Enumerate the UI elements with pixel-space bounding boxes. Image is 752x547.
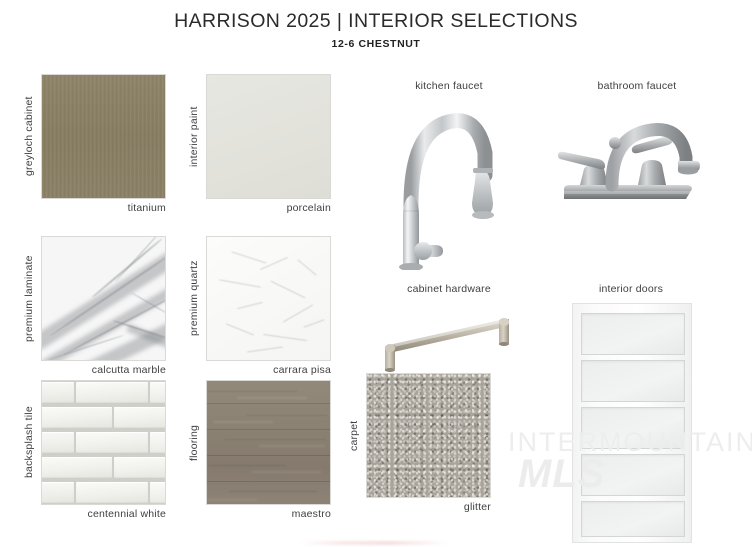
kitchen-faucet-icon <box>373 95 525 270</box>
interior-door-icon <box>572 303 692 543</box>
cabinet-bar-pull-icon <box>373 303 525 373</box>
carpet-texture <box>367 374 490 497</box>
selection-category-label: premium quartz <box>184 236 200 361</box>
selection-name-label: centennial white <box>41 508 166 520</box>
swatch-flooring <box>206 380 331 505</box>
door-panel <box>581 360 685 402</box>
selection-category-label: carpet <box>344 373 360 498</box>
cabinet-wood-texture <box>42 75 165 198</box>
marble-texture <box>42 237 165 360</box>
page-title: HARRISON 2025 | INTERIOR SELECTIONS <box>0 10 752 33</box>
product-label: cabinet hardware <box>373 283 525 295</box>
door-panel <box>581 313 685 355</box>
subway-tile-texture <box>42 381 165 504</box>
paint-texture <box>207 75 330 198</box>
swatch-greyloch-cabinet <box>41 74 166 199</box>
interior-selections-board: HARRISON 2025 | INTERIOR SELECTIONS 12-6… <box>0 0 752 547</box>
product-kitchen-faucet: kitchen faucet <box>373 80 525 270</box>
selection-category-label: premium laminate <box>19 236 35 361</box>
product-cabinet-hardware: cabinet hardware <box>373 283 525 373</box>
selection-name-label: calcutta marble <box>41 364 166 376</box>
swatch-backsplash-tile <box>41 380 166 505</box>
selection-name-label: titanium <box>41 202 166 214</box>
selection-name-label: carrara pisa <box>206 364 331 376</box>
swatch-premium-laminate <box>41 236 166 361</box>
page-subtitle: 12-6 CHESTNUT <box>0 38 752 50</box>
selection-category-label: backsplash tile <box>19 380 35 505</box>
door-panel <box>581 407 685 449</box>
product-interior-doors: interior doors <box>546 283 716 543</box>
quartz-texture <box>207 237 330 360</box>
product-label: bathroom faucet <box>546 80 728 92</box>
selection-category-label: interior paint <box>184 74 200 199</box>
product-label: kitchen faucet <box>373 80 525 92</box>
bathroom-faucet-icon <box>546 95 728 210</box>
product-bathroom-faucet: bathroom faucet <box>546 80 728 210</box>
bottom-edge-artifact <box>300 541 450 545</box>
selection-category-label: greyloch cabinet <box>19 74 35 199</box>
selection-name-label: maestro <box>206 508 331 520</box>
wood-plank-texture <box>207 381 330 504</box>
door-panel <box>581 454 685 496</box>
swatch-interior-paint <box>206 74 331 199</box>
swatch-carpet <box>366 373 491 498</box>
selection-name-label: porcelain <box>206 202 331 214</box>
selection-name-label: glitter <box>366 501 491 513</box>
selection-category-label: flooring <box>184 380 200 505</box>
product-label: interior doors <box>546 283 716 295</box>
door-panel <box>581 501 685 537</box>
swatch-premium-quartz <box>206 236 331 361</box>
board-header: HARRISON 2025 | INTERIOR SELECTIONS 12-6… <box>0 10 752 50</box>
